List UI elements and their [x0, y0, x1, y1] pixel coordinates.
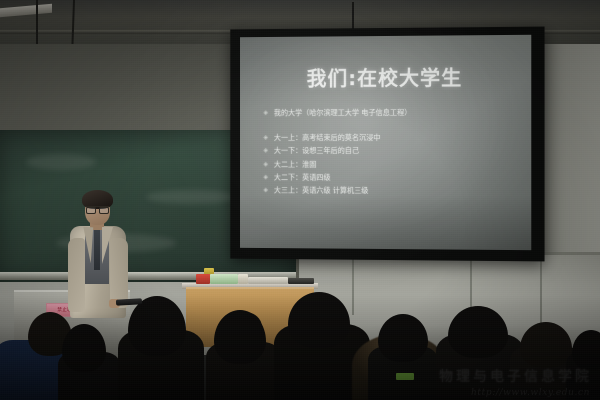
- slide-bullet-list: ◈ 我的大学（哈尔滨理工大学 电子信息工程） ◈ 大一上：高考结束后的莫名沉浸中…: [263, 108, 512, 200]
- desk-item: [248, 277, 288, 284]
- slide-bullet-item: ◈ 大二下：英语四级: [263, 172, 512, 183]
- wall-seam: [352, 255, 354, 315]
- watermark-text: 物理与电子信息学院: [439, 366, 592, 386]
- glasses-icon: [86, 206, 109, 212]
- wall-seam: [540, 255, 542, 360]
- bullet-diamond-icon: ◈: [263, 133, 268, 143]
- slide-bullet-text: 大一上：高考结束后的莫名沉浸中: [274, 133, 381, 143]
- bullet-diamond-icon: ◈: [263, 159, 268, 169]
- desk-item: [238, 274, 248, 284]
- slide-bullet-item: ◈ 大一上：高考结束后的莫名沉浸中: [263, 133, 512, 143]
- slide-bullet-text: 大一下：设想三年后的自己: [274, 146, 359, 156]
- wall-seam: [470, 255, 472, 315]
- lecturer: [56, 186, 140, 321]
- slide-bullet-text: 大二上：淮圄: [274, 159, 316, 169]
- projection-screen: 我们:在校大学生 ◈ 我的大学（哈尔滨理工大学 电子信息工程） ◈ 大一上：高考…: [230, 27, 544, 262]
- lecture-hall-photo: 我们:在校大学生 ◈ 我的大学（哈尔滨理工大学 电子信息工程） ◈ 大一上：高考…: [0, 0, 600, 400]
- projection-screen-surface: 我们:在校大学生 ◈ 我的大学（哈尔滨理工大学 电子信息工程） ◈ 大一上：高考…: [240, 35, 531, 250]
- slide-bullet-item: ◈ 我的大学（哈尔滨理工大学 电子信息工程）: [263, 108, 512, 119]
- slide-bullet-item: ◈ 大二上：淮圄: [263, 159, 512, 170]
- slide-bullet-text: 大三上：英语六级 计算机三级: [274, 186, 369, 196]
- slide-title: 我们:在校大学生: [240, 61, 531, 92]
- watermark-url: http://www.wlxy.edu.cn: [471, 388, 590, 398]
- left-arm: [68, 238, 85, 312]
- bullet-diamond-icon: ◈: [263, 186, 268, 196]
- slide-bullet-item: ◈ 大一下：设想三年后的自己: [263, 146, 512, 156]
- tie: [94, 230, 100, 270]
- bullet-diamond-icon: ◈: [263, 146, 268, 156]
- screen-shadow: [240, 194, 531, 250]
- right-arm: [110, 238, 128, 308]
- desk-item: [210, 274, 238, 284]
- bullet-diamond-icon: ◈: [263, 108, 268, 118]
- lectern-opening: [228, 312, 262, 342]
- bullet-diamond-icon: ◈: [263, 172, 268, 182]
- desk-item: [288, 278, 314, 284]
- presentation-remote: [116, 298, 142, 305]
- slide-bullet-text: 我的大学（哈尔滨理工大学 电子信息工程）: [274, 108, 412, 118]
- desk-item: [196, 274, 210, 284]
- slide-bullet-text: 大二下：英语四级: [274, 173, 331, 183]
- slide-bullet-item: ◈ 大三上：英语六级 计算机三级: [263, 186, 512, 197]
